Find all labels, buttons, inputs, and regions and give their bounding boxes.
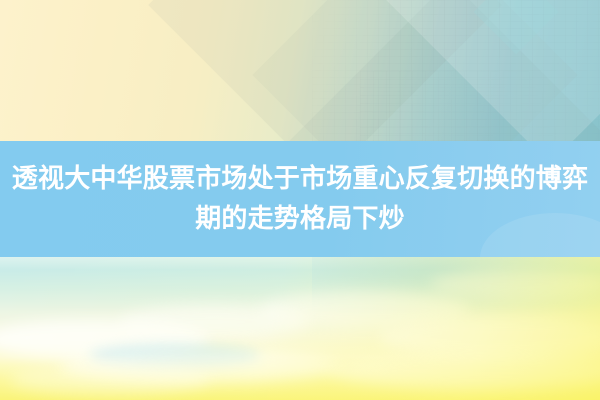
page-title-line-2: 期的走势格局下炒 [195,204,405,234]
page-title: 透视大中华股票市场处于市场重心反复切换的博弈 期的走势格局下炒 [8,159,592,239]
sky-cloud-image [0,257,600,400]
table-grid-texture [360,71,600,142]
top-gradient-strip [0,0,600,141]
sky-warm-overlay [0,257,600,400]
headline-band: 透视大中华股票市场处于市场重心反复切换的博弈 期的走势格局下炒 [0,141,600,257]
page-title-line-1: 透视大中华股票市场处于市场重心反复切换的博弈 [12,164,588,194]
article-header-banner: 透视大中华股票市场处于市场重心反复切换的博弈 期的走势格局下炒 [0,0,600,400]
